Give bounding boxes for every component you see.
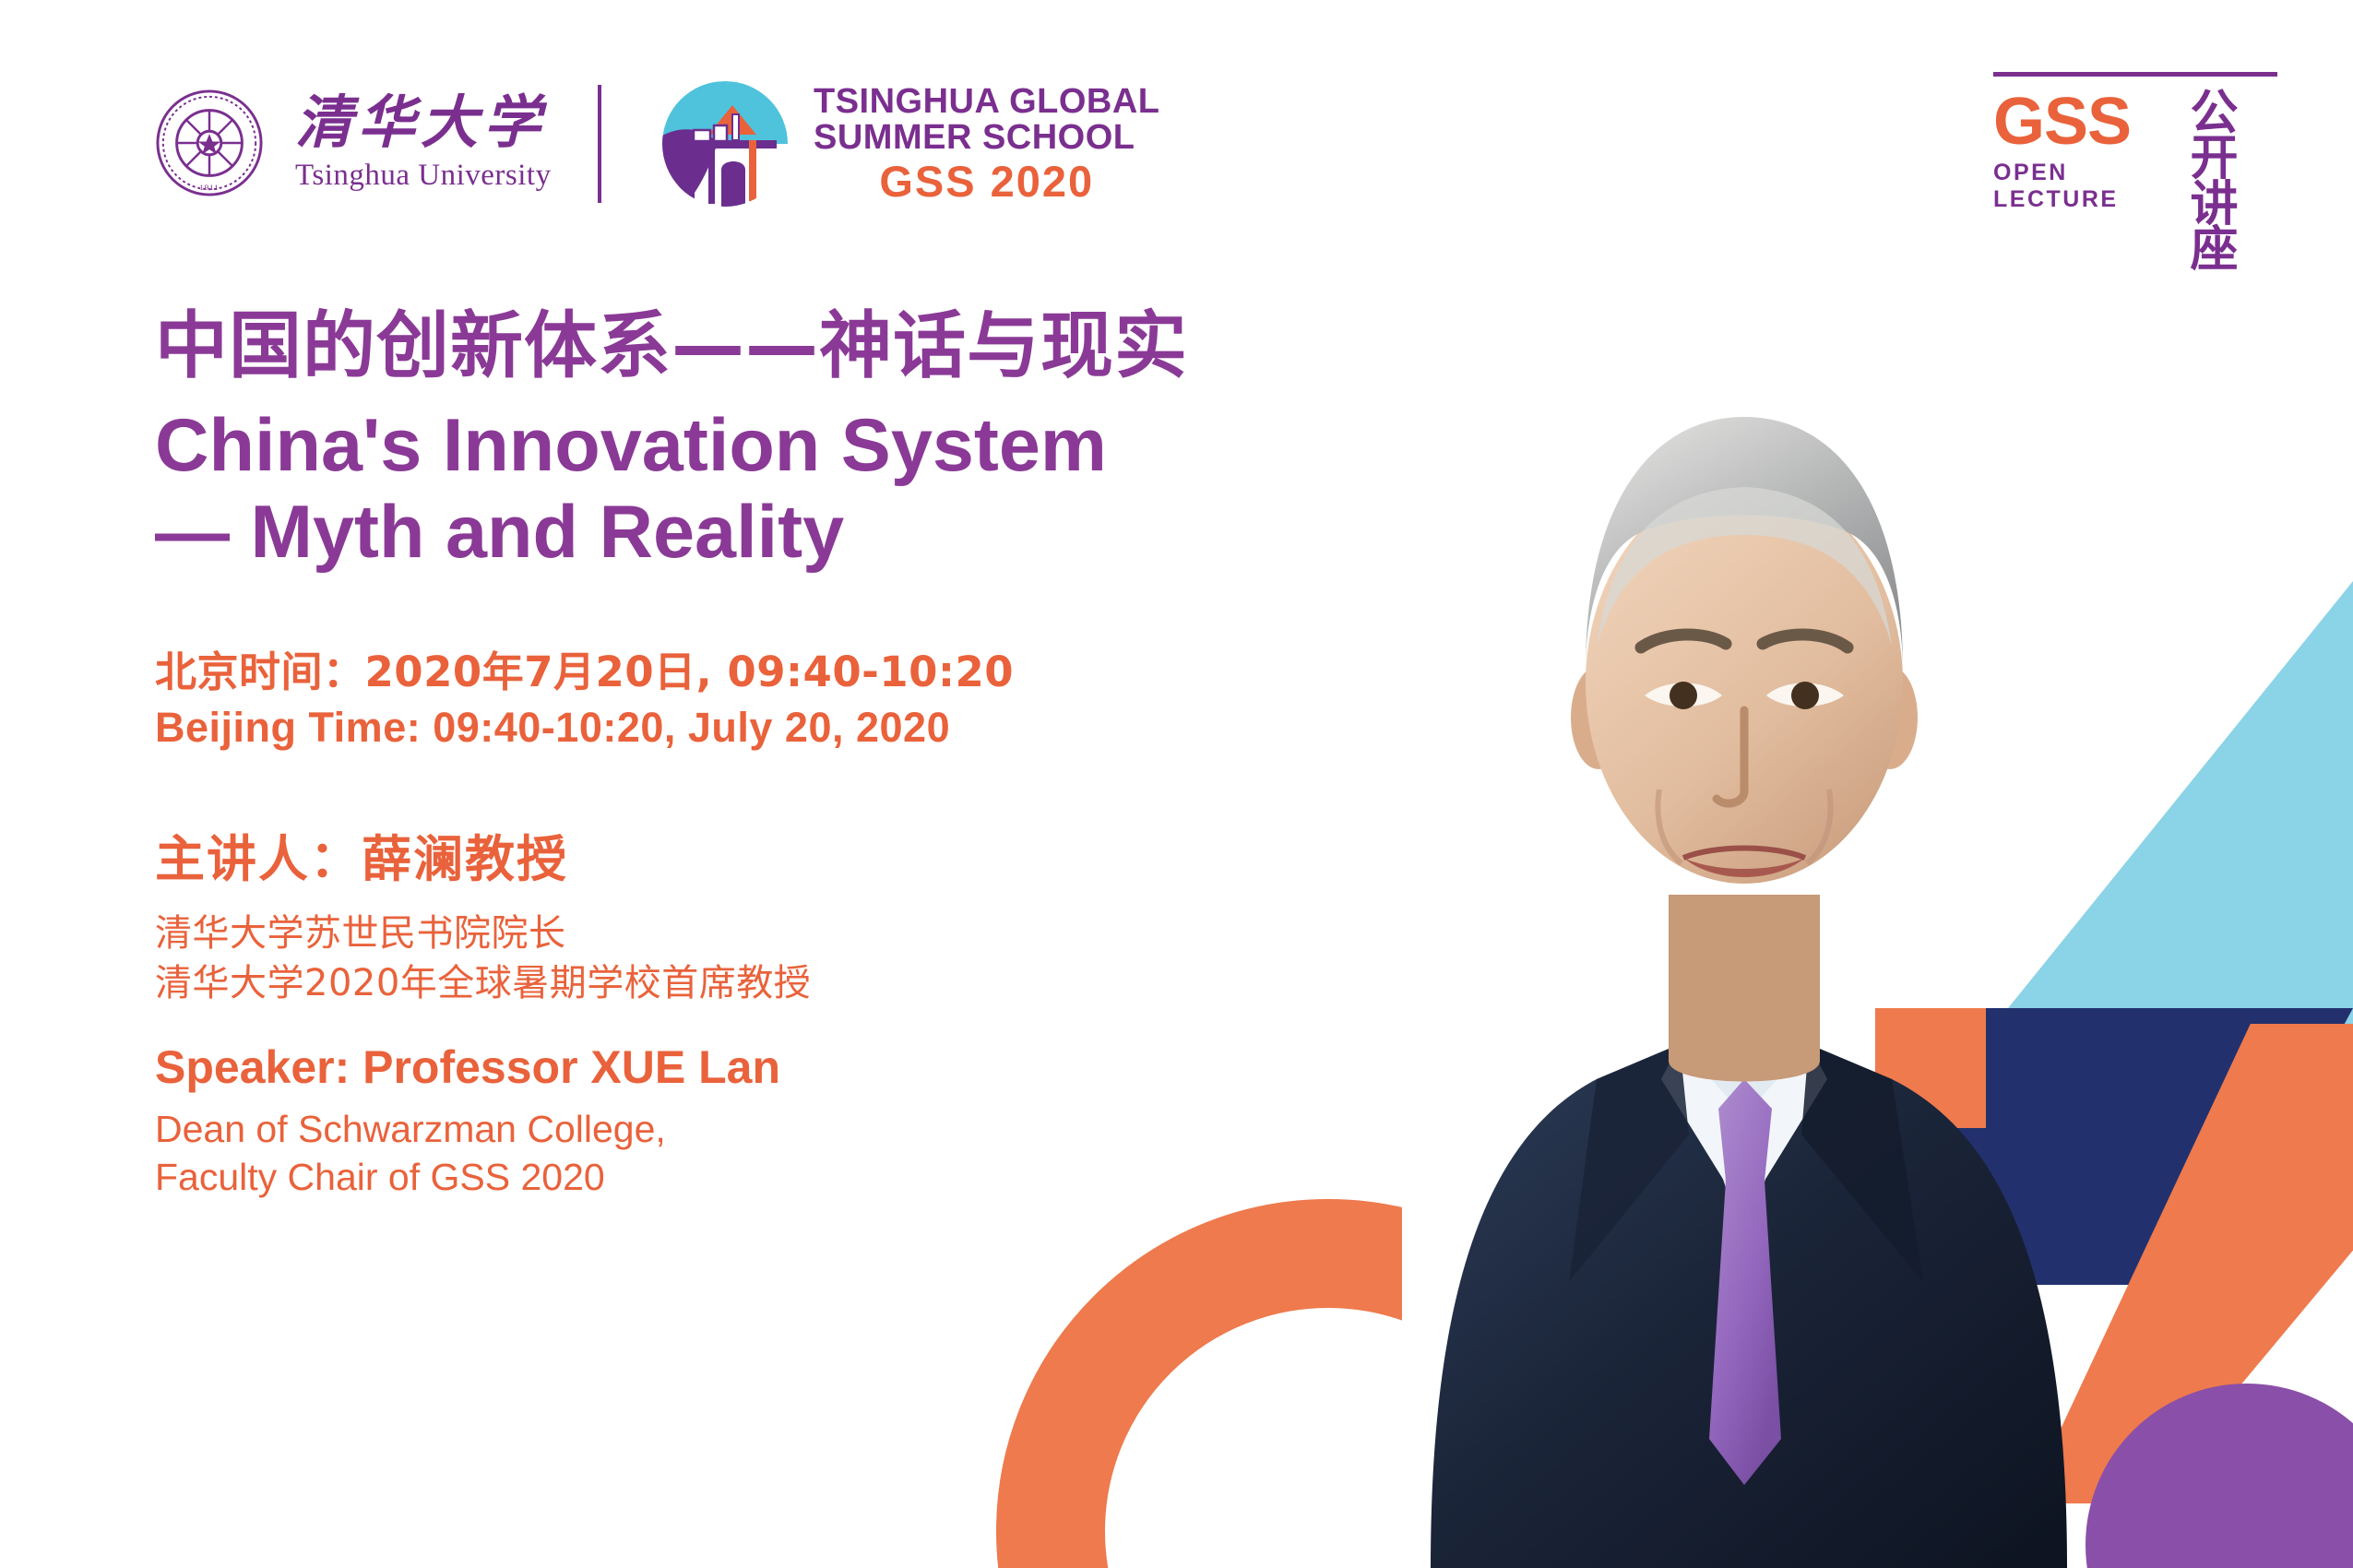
badge-gss-text: GSS (1993, 91, 2179, 152)
gss-year-line: GSS 2020 (814, 160, 1160, 204)
datetime-block: 北京时间：2020年7月20日, 09:40-10:20 Beijing Tim… (155, 645, 1502, 756)
neck-shape (1669, 895, 1820, 1082)
speaker-role-cn-2: 清华大学2020年全球暑期学校首席教授 (155, 958, 1502, 1008)
poster-content: 中国的创新体系——神话与现实 China's Innovation System… (155, 304, 1502, 1201)
gss-gate-mark-icon (660, 79, 790, 208)
badge-open-lecture-text: OPEN LECTURE (1993, 160, 2179, 213)
speaker-name-cn: 主讲人：薛澜教授 (155, 830, 1502, 890)
gss-line-1: TSINGHUA GLOBAL (814, 84, 1160, 120)
badge-cn-line-1: 公开 (2190, 91, 2277, 183)
badge-body: GSS OPEN LECTURE 公开 讲座 (1993, 91, 2277, 274)
lecture-title-cn: 中国的创新体系——神话与现实 (155, 304, 1502, 389)
poster-header: 1911 清华大学 Tsinghua University (0, 0, 2353, 240)
badge-rule (1993, 72, 2277, 77)
gss-logo-lockup: TSINGHUA GLOBAL SUMMER SCHOOL GSS 2020 (660, 79, 1160, 208)
pupil-right (1791, 682, 1819, 709)
datetime-en: Beijing Time: 09:40-10:20, July 20, 2020 (155, 700, 1502, 755)
tsinghua-seal-icon: 1911 (155, 89, 264, 197)
speaker-role-en-2: Faculty Chair of GSS 2020 (155, 1153, 1502, 1201)
pupil-left (1670, 682, 1697, 709)
tsinghua-wordmark: 清华大学 Tsinghua University (295, 94, 552, 193)
tsinghua-name-cn: 清华大学 (295, 94, 552, 151)
datetime-cn: 北京时间：2020年7月20日, 09:40-10:20 (155, 645, 1502, 700)
svg-text:1911: 1911 (199, 183, 219, 192)
face-shape (1586, 481, 1903, 884)
speaker-roles-cn: 清华大学苏世民书院院长 清华大学2020年全球暑期学校首席教授 (155, 909, 1502, 1008)
gss-line-2: SUMMER SCHOOL (814, 120, 1160, 156)
lecture-poster: 1911 清华大学 Tsinghua University (0, 0, 2353, 1568)
badge-left-column: GSS OPEN LECTURE (1993, 91, 2179, 213)
speaker-block: 主讲人：薛澜教授 清华大学苏世民书院院长 清华大学2020年全球暑期学校首席教授… (155, 830, 1502, 1202)
logo-divider (598, 85, 601, 203)
gss-text-block: TSINGHUA GLOBAL SUMMER SCHOOL GSS 2020 (814, 84, 1160, 205)
badge-cn-line-2: 讲座 (2190, 183, 2277, 274)
speaker-roles-en: Dean of Schwarzman College, Faculty Chai… (155, 1105, 1502, 1202)
open-lecture-badge: GSS OPEN LECTURE 公开 讲座 (1993, 72, 2277, 274)
tsinghua-logo-lockup: 1911 清华大学 Tsinghua University (155, 89, 552, 197)
speaker-role-cn-1: 清华大学苏世民书院院长 (155, 909, 1502, 958)
tsinghua-name-en: Tsinghua University (295, 159, 552, 193)
lecture-title-en: China's Innovation System — Myth and Rea… (155, 402, 1502, 577)
speaker-role-en-1: Dean of Schwarzman College, (155, 1105, 1502, 1153)
badge-right-column: 公开 讲座 (2190, 91, 2277, 274)
lecture-title-en-line-1: China's Innovation System (155, 404, 1107, 487)
speaker-name-en: Speaker: Professor XUE Lan (155, 1039, 1502, 1096)
lecture-title-en-line-2: — Myth and Reality (155, 489, 1502, 576)
